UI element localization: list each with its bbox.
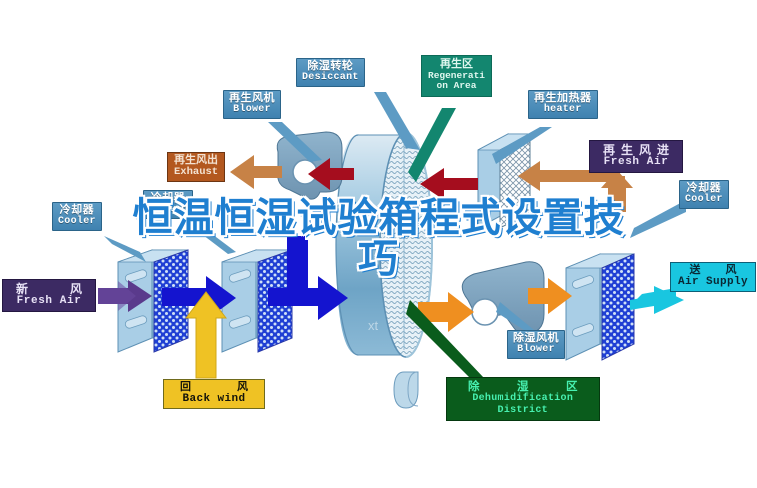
label-regen-in-en: Fresh Air: [597, 157, 675, 169]
cooler-coil-3: [566, 254, 634, 360]
label-dehum-area-cn: 除 湿 区: [455, 381, 591, 393]
label-air-supply-cn: 送 风: [678, 265, 748, 277]
label-desiccant-cn: 除湿转轮: [302, 61, 359, 73]
label-regen-heater-en: heater: [534, 105, 592, 116]
label-dehum-blower-en: Blower: [513, 345, 559, 356]
label-air-supply[interactable]: 送 风 Air Supply: [670, 262, 756, 292]
watermark-text: xt: [368, 318, 379, 333]
label-cooler-2-en: Cooler: [149, 205, 187, 216]
label-regen-fresh-air-in[interactable]: 再生风进 Fresh Air: [589, 140, 683, 173]
label-back-wind-cn: 回 风: [172, 382, 256, 394]
label-regen-heater-cn: 再生加热器: [534, 93, 592, 105]
label-fresh-air[interactable]: 新 风 Fresh Air: [2, 279, 96, 312]
label-regen-blower[interactable]: 再生风机 Blower: [223, 90, 281, 119]
label-back-wind[interactable]: 回 风 Back wind: [163, 379, 265, 409]
label-cooler-2[interactable]: 冷却器 Cooler: [143, 190, 193, 219]
label-fresh-air-en: Fresh Air: [10, 296, 88, 308]
label-cooler-3-en: Cooler: [685, 195, 723, 206]
label-regen-blower-cn: 再生风机: [229, 93, 275, 105]
label-air-supply-en: Air Supply: [678, 277, 748, 289]
label-exhaust-cn: 再生风出: [174, 155, 218, 167]
label-dehum-blower-cn: 除湿风机: [513, 333, 559, 345]
label-cooler-2-cn: 冷却器: [149, 193, 187, 205]
label-fresh-air-cn: 新 风: [10, 283, 88, 296]
label-regen-in-cn: 再生风进: [597, 144, 675, 157]
flow-exhaust-out: [230, 155, 282, 189]
label-cooler-3[interactable]: 冷却器 Cooler: [679, 180, 729, 209]
label-desiccant[interactable]: 除湿转轮 Desiccant: [296, 58, 365, 87]
label-back-wind-en: Back wind: [172, 394, 256, 406]
regen-blower-body: [277, 132, 342, 199]
label-dehum-area-en1: Dehumidification: [455, 393, 591, 405]
label-regen-area-en2: on Area: [428, 81, 485, 92]
schematic-canvas: xt: [0, 0, 757, 488]
dehumidifier-schematic: xt: [0, 0, 757, 488]
label-cooler-1-en: Cooler: [58, 217, 96, 228]
label-cooler-1-cn: 冷却器: [58, 205, 96, 217]
label-regen-heater[interactable]: 再生加热器 heater: [528, 90, 598, 119]
label-cooler-1[interactable]: 冷却器 Cooler: [52, 202, 102, 231]
label-desiccant-en: Desiccant: [302, 73, 359, 84]
label-dehum-blower[interactable]: 除湿风机 Blower: [507, 330, 565, 359]
flow-process-down: [284, 236, 308, 300]
label-exhaust[interactable]: 再生风出 Exhaust: [167, 152, 225, 182]
drain-tray: [394, 372, 418, 408]
label-dehum-area-en2: District: [455, 405, 591, 417]
label-dehumidification-district[interactable]: 除 湿 区 Dehumidification District: [446, 377, 600, 421]
label-regen-area[interactable]: 再生区 Regenerati on Area: [421, 55, 492, 97]
label-cooler-3-cn: 冷却器: [685, 183, 723, 195]
label-regen-area-cn: 再生区: [428, 59, 485, 71]
label-exhaust-en: Exhaust: [174, 167, 218, 178]
label-regen-blower-en: Blower: [229, 105, 275, 116]
